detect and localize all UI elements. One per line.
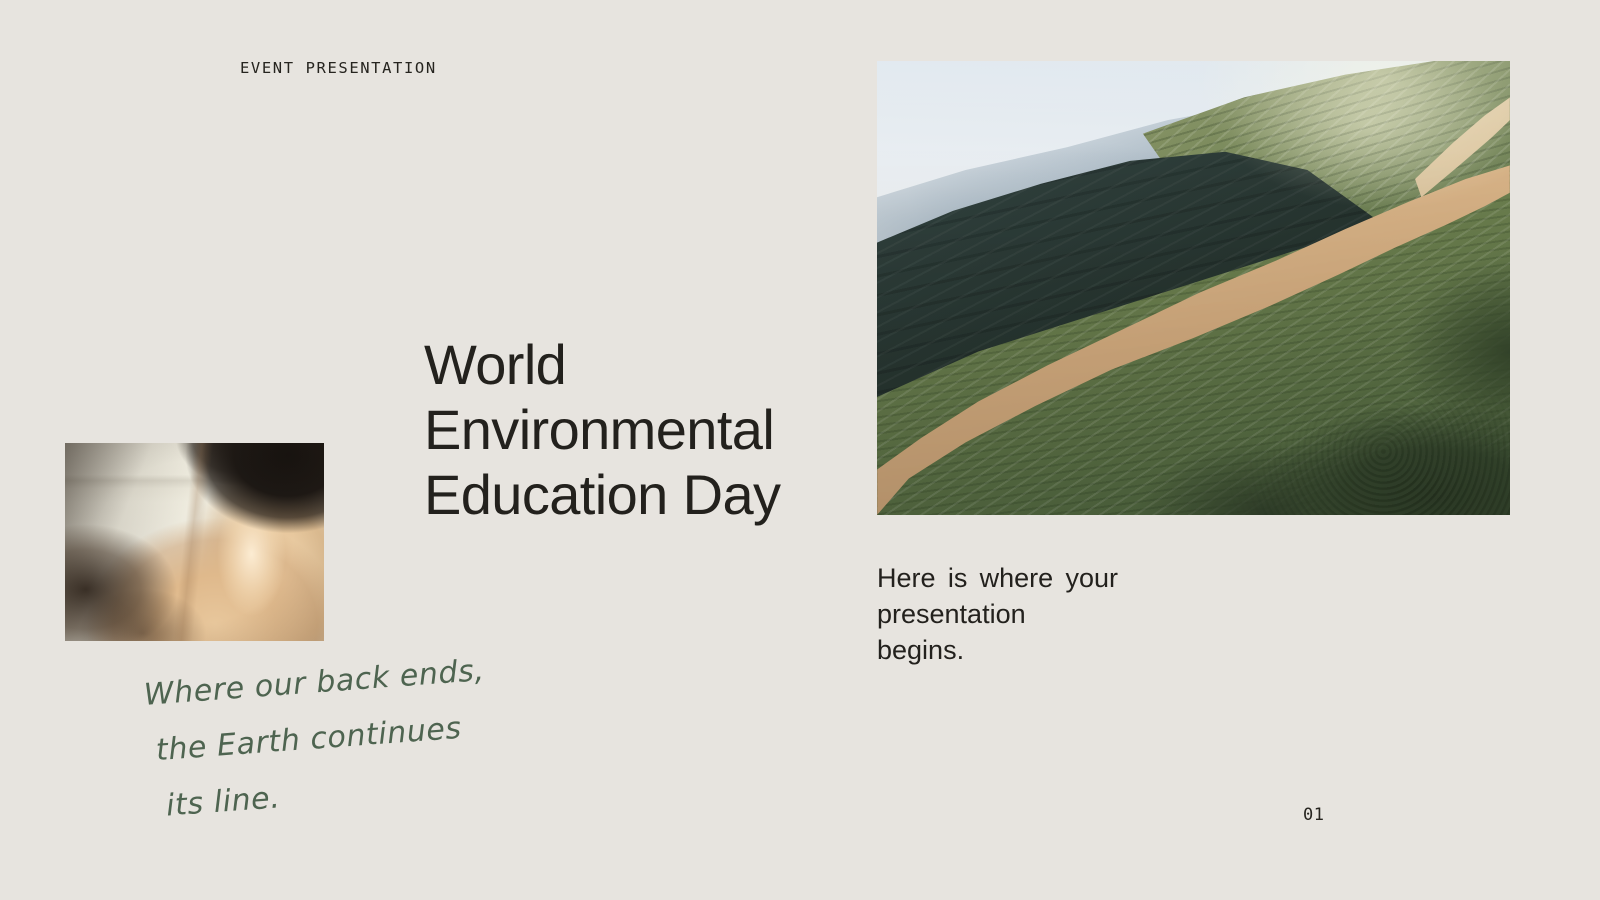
handwritten-quote: Where our back ends, the Earth continues… xyxy=(142,637,573,835)
portrait-photo[interactable] xyxy=(65,443,324,641)
landscape-photo[interactable] xyxy=(877,61,1510,515)
body-text: Here is where your presentation begins. xyxy=(877,560,1118,668)
page-number: 01 xyxy=(1303,805,1324,825)
slide-kicker: EVENT PRESENTATION xyxy=(240,59,437,77)
presentation-slide: EVENT PRESENTATION World Environmental E… xyxy=(0,0,1600,900)
title-line-1: World xyxy=(424,332,804,397)
landscape-sun-glow-layer xyxy=(877,61,1510,515)
portrait-spine-detail-layer xyxy=(65,443,324,641)
title-line-2: Environmental xyxy=(424,397,804,462)
page-title: World Environmental Education Day xyxy=(424,332,804,527)
title-line-3: Education Day xyxy=(424,462,804,527)
